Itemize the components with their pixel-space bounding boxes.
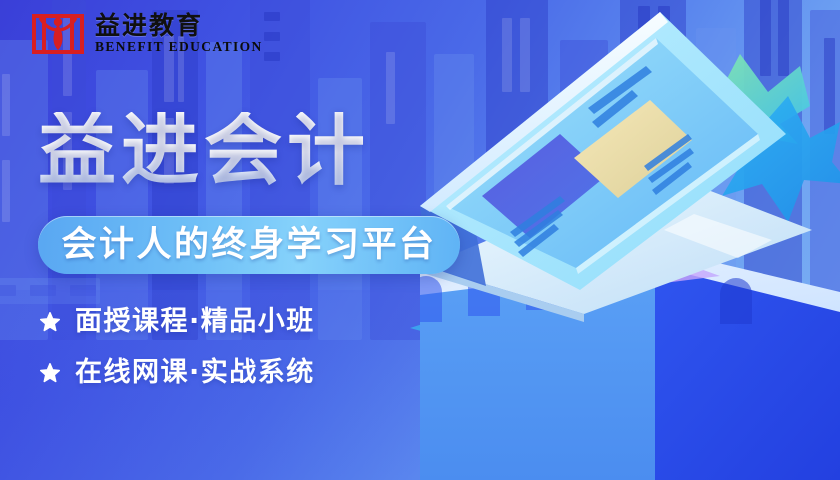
brand-logo-text: 益进教育 BENEFIT EDUCATION xyxy=(95,13,263,54)
subtitle-text: 会计人的终身学习平台 xyxy=(61,228,436,263)
subtitle-pill: 会计人的终身学习平台 xyxy=(38,216,460,274)
list-item-label: 在线网课·实战系统 xyxy=(75,359,315,386)
benefit-education-logo-mark-icon xyxy=(30,10,86,56)
list-item: 面授课程·精品小班 xyxy=(40,308,315,335)
page-title: 益进会计 xyxy=(38,112,370,190)
feature-list: 面授课程·精品小班 在线网课·实战系统 xyxy=(40,308,315,386)
promo-banner: 益进教育 BENEFIT EDUCATION 益进会计 会计人的终身学习平台 面… xyxy=(0,0,840,480)
list-item-label: 面授课程·精品小班 xyxy=(75,308,315,335)
star-icon xyxy=(40,363,60,383)
list-item: 在线网课·实战系统 xyxy=(40,359,315,386)
laptop-on-pedestal-illustration xyxy=(420,0,840,480)
brand-name-en: BENEFIT EDUCATION xyxy=(95,40,263,54)
brand-name-cn: 益进教育 xyxy=(95,13,263,39)
star-icon xyxy=(40,312,60,332)
brand-logo[interactable]: 益进教育 BENEFIT EDUCATION xyxy=(30,10,263,56)
